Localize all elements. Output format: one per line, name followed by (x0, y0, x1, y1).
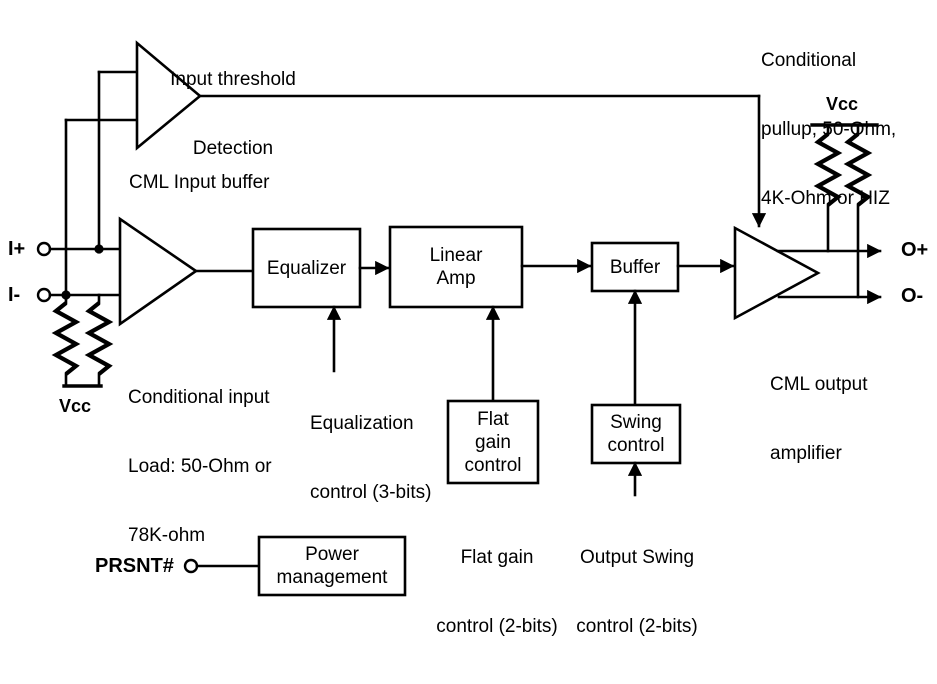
port-label-in-neg: I- (8, 284, 20, 307)
flat-gain-bits-line1: Flat gain (432, 546, 562, 569)
prsnt-port-label: PRSNT# (95, 555, 174, 578)
power-management-label: Power management (259, 537, 405, 595)
cml-output-amplifier-label: CML output amplifier (770, 327, 868, 511)
port-label-out-neg: O- (901, 285, 923, 308)
swing-control-label: Swing control (592, 405, 680, 463)
cml-input-buffer-label: CML Input buffer (129, 171, 269, 194)
cml-output-amplifier-line1: CML output (770, 373, 868, 396)
conditional-pullup-line3: 4K-Ohm or HIZ (761, 187, 896, 210)
linear-amp-line2: Amp (436, 267, 475, 290)
input-load-resistor-right (89, 295, 109, 386)
flat-gain-line3: control (464, 454, 521, 477)
linear-amp-line1: Linear (430, 244, 483, 267)
swing-bits-line1: Output Swing (570, 546, 704, 569)
block-diagram-canvas: Input threshold Detection CML Input buff… (0, 0, 937, 601)
input-load-resistor-left (56, 295, 76, 386)
conditional-pullup-annotation: Conditional pullup, 50-Ohm, 4K-Ohm or HI… (761, 3, 896, 256)
input-vcc-text: Vcc (59, 396, 91, 416)
flat-gain-bits-line2: control (2-bits) (432, 615, 562, 638)
swing-line1: Swing (610, 411, 662, 434)
power-management-line1: Power (305, 543, 359, 566)
buffer-label: Buffer (592, 243, 678, 291)
cml-input-buffer-symbol (120, 219, 196, 324)
conditional-input-line3: 78K-ohm (128, 524, 272, 547)
power-management-line2: management (277, 566, 388, 589)
input-vcc-label: Vcc (59, 395, 91, 418)
output-vcc-label: Vcc (826, 93, 858, 116)
input-threshold-detection-line2: Detection (148, 137, 318, 160)
cml-output-amplifier-line2: amplifier (770, 442, 868, 465)
input-threshold-detection-line1: Input threshold (148, 68, 318, 91)
equalizer-label: Equalizer (253, 229, 360, 307)
output-vcc-text: Vcc (826, 94, 858, 114)
output-swing-control-bits-annotation: Output Swing control (2-bits) (570, 500, 704, 684)
flat-gain-control-label: Flat gain control (448, 401, 538, 483)
port-label-in-pos: I+ (8, 238, 25, 261)
linear-amp-label: Linear Amp (390, 227, 522, 307)
flat-gain-line1: Flat (477, 408, 509, 431)
flat-gain-line2: gain (475, 431, 511, 454)
conditional-input-line2: Load: 50-Ohm or (128, 455, 272, 478)
swing-bits-line2: control (2-bits) (570, 615, 704, 638)
equalization-control-line1: Equalization (310, 412, 431, 435)
equalization-control-line2: control (3-bits) (310, 481, 431, 504)
equalization-control-annotation: Equalization control (3-bits) (310, 366, 431, 550)
swing-line2: control (607, 434, 664, 457)
conditional-pullup-line2: pullup, 50-Ohm, (761, 118, 896, 141)
buffer-text: Buffer (610, 256, 660, 279)
conditional-input-line1: Conditional input (128, 386, 272, 409)
flat-gain-control-bits-annotation: Flat gain control (2-bits) (432, 500, 562, 684)
conditional-pullup-line1: Conditional (761, 49, 896, 72)
equalizer-text: Equalizer (267, 257, 346, 280)
port-label-out-pos: O+ (901, 239, 928, 262)
